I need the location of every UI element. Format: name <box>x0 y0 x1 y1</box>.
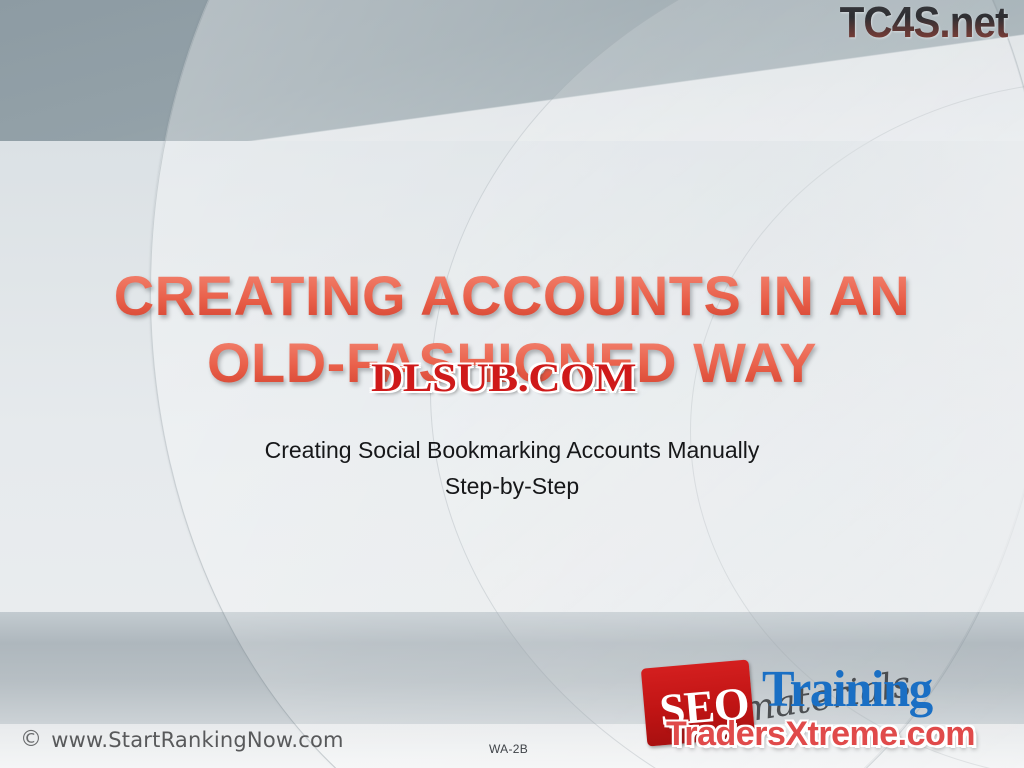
slide-subtitle-line-2: Step-by-Step <box>0 468 1024 504</box>
presentation-slide: TC4S.net Creating Accounts in an Old-Fas… <box>0 0 1024 768</box>
copyright-icon: © <box>20 727 42 752</box>
slide-code-label: WA-2B <box>489 742 528 756</box>
watermark-tradersxtreme: TradersXtreme.com <box>666 715 975 754</box>
slide-subtitle-line-1: Creating Social Bookmarking Accounts Man… <box>0 432 1024 468</box>
footer-copyright: © www.StartRankingNow.com <box>20 727 344 752</box>
footer-website-label: www.StartRankingNow.com <box>51 728 343 752</box>
slide-title-line-1: Creating Accounts in an <box>0 262 1024 329</box>
training-label: Training <box>762 660 932 719</box>
logo-seo-training: materials SEO Training TradersXtreme.com <box>640 655 1024 768</box>
watermark-tc4s: TC4S.net <box>840 0 1008 48</box>
watermark-dlsub: DLSUB.COM <box>371 358 636 398</box>
slide-subtitle: Creating Social Bookmarking Accounts Man… <box>0 432 1024 504</box>
